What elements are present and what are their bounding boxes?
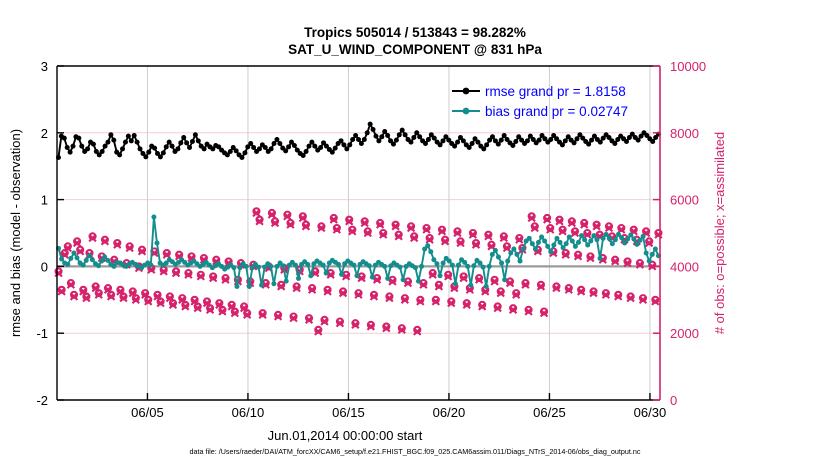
series-marker <box>350 137 355 142</box>
series-marker <box>242 150 247 155</box>
series-marker <box>196 138 201 143</box>
series-marker <box>99 259 104 264</box>
series-marker <box>362 137 367 142</box>
series-marker <box>324 271 329 276</box>
series-marker <box>423 141 428 146</box>
series-marker <box>653 247 658 252</box>
series-marker <box>370 275 375 280</box>
series-marker <box>638 238 643 243</box>
series-marker <box>117 152 122 157</box>
series-marker <box>419 264 424 269</box>
series-marker <box>634 242 639 247</box>
series-marker <box>574 136 579 141</box>
series-marker <box>490 252 495 257</box>
y-tick-label-right: 8000 <box>670 126 699 141</box>
series-marker <box>628 233 633 238</box>
series-marker <box>589 138 594 143</box>
series-marker <box>178 140 183 145</box>
series-marker <box>309 140 314 145</box>
series-marker <box>514 252 519 257</box>
series-marker <box>493 248 498 253</box>
series-marker <box>108 132 113 137</box>
series-marker <box>353 133 358 138</box>
legend-label: bias grand pr = 0.02747 <box>485 104 628 119</box>
series-marker <box>650 139 655 144</box>
series-marker <box>585 243 590 248</box>
series-marker <box>347 142 352 147</box>
series-marker <box>120 146 125 151</box>
series-marker <box>111 264 116 269</box>
series-marker <box>518 259 523 264</box>
series-marker <box>400 128 405 133</box>
series-marker <box>525 138 530 143</box>
series-marker <box>184 140 189 145</box>
series-marker <box>417 134 422 139</box>
series-marker <box>610 241 615 246</box>
series-marker <box>152 146 157 151</box>
series-marker <box>286 144 291 149</box>
series-marker <box>274 137 279 142</box>
series-marker <box>539 235 544 240</box>
legend-label: rmse grand pr = 1.8158 <box>485 84 626 99</box>
series-marker <box>481 146 486 151</box>
series-marker <box>87 253 92 258</box>
series-marker <box>475 140 480 145</box>
series-marker <box>283 148 288 153</box>
series-marker <box>502 277 507 282</box>
series-marker <box>545 244 550 249</box>
y-tick-label-right: 6000 <box>670 193 699 208</box>
series-marker <box>496 255 501 260</box>
series-marker <box>164 144 169 149</box>
series-marker <box>484 284 489 289</box>
series-marker <box>247 284 252 289</box>
series-marker <box>582 237 587 242</box>
chart-canvas: -2-10123020004000600080001000006/0506/10… <box>0 0 830 470</box>
series-marker <box>631 237 636 242</box>
series-marker <box>530 241 535 246</box>
series-marker <box>641 234 646 239</box>
series-marker <box>487 264 492 269</box>
series-marker <box>438 142 443 147</box>
series-marker <box>126 134 131 139</box>
series-marker <box>379 134 384 139</box>
series-marker <box>644 251 649 256</box>
y-tick-label-right: 0 <box>670 393 677 408</box>
series-marker <box>572 140 577 145</box>
series-marker <box>594 237 599 242</box>
series-marker <box>68 256 73 261</box>
series-marker <box>85 146 90 151</box>
series-marker <box>251 145 256 150</box>
series-marker <box>573 244 578 249</box>
series-marker <box>398 265 403 270</box>
series-marker <box>564 241 569 246</box>
series-marker <box>499 261 504 266</box>
series-marker <box>478 261 483 266</box>
series-marker <box>548 249 553 254</box>
series-marker <box>339 272 344 277</box>
series-marker <box>132 133 137 138</box>
series-marker <box>272 141 277 146</box>
series-marker <box>481 265 486 270</box>
series-marker <box>308 273 313 278</box>
x-tick-label: 06/20 <box>433 405 466 420</box>
legend-marker <box>463 88 470 95</box>
series-marker <box>359 141 364 146</box>
series-marker <box>536 240 541 245</box>
series-marker <box>428 249 433 254</box>
series-marker <box>537 138 542 143</box>
x-tick-label: 06/10 <box>232 405 265 420</box>
series-marker <box>461 138 466 143</box>
series-marker <box>601 236 606 241</box>
series-marker <box>238 265 243 270</box>
line-series <box>56 122 661 160</box>
series-marker <box>281 263 286 268</box>
series-marker <box>570 239 575 244</box>
series-marker <box>484 142 489 147</box>
y-tick-label: -1 <box>36 326 48 341</box>
series-marker <box>296 276 301 281</box>
x-axis-caption: Jun.01,2014 00:00:00 start <box>0 428 690 443</box>
series-marker <box>456 263 461 268</box>
series-marker <box>301 153 306 158</box>
series-marker <box>391 142 396 147</box>
series-marker <box>228 149 233 154</box>
series-marker <box>426 137 431 142</box>
series-marker <box>440 138 445 143</box>
series-marker <box>269 146 274 151</box>
series-marker <box>304 149 309 154</box>
x-tick-label: 06/15 <box>332 405 365 420</box>
y-axis-title-right: # of obs: o=possible; x=assimilated <box>712 132 727 334</box>
series-marker <box>351 263 356 268</box>
series-marker <box>256 265 261 270</box>
series-marker <box>330 150 335 155</box>
y-tick-label-right: 2000 <box>670 326 699 341</box>
series-marker <box>65 145 70 150</box>
series-marker <box>624 139 629 144</box>
series-marker <box>190 139 195 144</box>
series-marker <box>356 137 361 142</box>
series-marker <box>305 262 310 267</box>
x-tick-label: 06/30 <box>634 405 667 420</box>
series-marker <box>511 247 516 252</box>
series-marker <box>312 144 317 149</box>
series-marker <box>373 134 378 139</box>
series-marker <box>533 247 538 252</box>
series-marker <box>321 263 326 268</box>
series-marker <box>368 122 373 127</box>
plot-figure: Tropics 505014 / 513843 = 98.282% SAT_U_… <box>0 0 830 470</box>
series-marker <box>354 273 359 278</box>
series-marker <box>470 141 475 146</box>
series-marker <box>591 233 596 238</box>
series-marker <box>202 146 207 151</box>
series-marker <box>187 145 192 150</box>
series-marker <box>414 130 419 135</box>
series-marker <box>612 141 617 146</box>
series-marker <box>450 263 455 268</box>
series-marker <box>496 142 501 147</box>
series-marker <box>551 243 556 248</box>
series-marker <box>234 284 239 289</box>
series-marker <box>453 281 458 286</box>
series-marker <box>167 140 172 145</box>
series-marker <box>468 283 473 288</box>
series-marker <box>636 138 641 143</box>
series-marker <box>259 283 264 288</box>
series-marker <box>257 146 262 151</box>
series-marker <box>123 140 128 145</box>
series-marker <box>579 233 584 238</box>
series-marker <box>154 241 159 246</box>
series-marker <box>74 255 79 260</box>
series-marker <box>558 240 563 245</box>
series-marker <box>598 140 603 145</box>
series-marker <box>244 264 249 269</box>
series-marker <box>138 146 143 151</box>
series-marker <box>231 265 236 270</box>
series-marker <box>561 245 566 250</box>
series-marker <box>613 237 618 242</box>
series-marker <box>62 136 67 141</box>
series-marker <box>371 127 376 132</box>
series-marker <box>521 247 526 252</box>
series-marker <box>588 239 593 244</box>
series-marker <box>548 137 553 142</box>
series-marker <box>105 258 110 263</box>
series-marker <box>129 138 134 143</box>
series-marker <box>438 273 443 278</box>
series-marker <box>339 138 344 143</box>
series-marker <box>333 146 338 151</box>
series-marker <box>84 258 89 263</box>
series-marker <box>293 263 298 268</box>
series-marker <box>170 144 175 149</box>
series-marker <box>650 252 655 257</box>
series-marker <box>103 144 108 149</box>
series-marker <box>158 154 163 159</box>
series-marker <box>271 281 276 286</box>
series-marker <box>248 141 253 146</box>
series-marker <box>505 259 510 264</box>
series-marker <box>447 259 452 264</box>
series-marker <box>425 243 430 248</box>
series-marker <box>306 144 311 149</box>
series-marker <box>622 241 627 246</box>
series-marker <box>161 150 166 155</box>
y-tick-label: 2 <box>41 126 48 141</box>
series-marker <box>193 132 198 137</box>
x-tick-label: 06/05 <box>131 405 164 420</box>
series-marker <box>467 145 472 150</box>
y-tick-label: 0 <box>41 259 48 274</box>
series-marker <box>277 141 282 146</box>
series-marker <box>76 136 81 141</box>
series-marker <box>542 239 547 244</box>
series-marker <box>367 263 372 268</box>
series-marker <box>385 276 390 281</box>
series-marker <box>96 263 101 268</box>
series-marker <box>71 144 76 149</box>
y-tick-label: 1 <box>41 193 48 208</box>
series-marker <box>284 279 289 284</box>
series-marker <box>560 142 565 147</box>
series-marker <box>79 144 84 149</box>
series-marker <box>385 133 390 138</box>
series-marker <box>431 257 436 262</box>
series-marker <box>411 135 416 140</box>
series-marker <box>403 132 408 137</box>
series-marker <box>441 261 446 266</box>
series-marker <box>268 264 273 269</box>
series-marker <box>508 251 513 256</box>
series-marker <box>527 236 532 241</box>
series-marker <box>382 264 387 269</box>
series-marker <box>59 257 64 262</box>
y-tick-label: 3 <box>41 59 48 74</box>
series-marker <box>151 214 156 219</box>
y-axis-title: rmse and bias (model - observation) <box>8 129 23 337</box>
series-marker <box>394 138 399 143</box>
series-marker <box>465 264 470 269</box>
series-marker <box>408 140 413 145</box>
series-marker <box>318 145 323 150</box>
series-marker <box>365 130 370 135</box>
series-marker <box>401 277 406 282</box>
series-marker <box>100 149 105 154</box>
series-marker <box>91 142 96 147</box>
series-marker <box>263 145 268 150</box>
series-marker <box>471 263 476 268</box>
series-marker <box>146 150 151 155</box>
y-tick-label-right: 4000 <box>670 259 699 274</box>
series-marker <box>292 143 297 148</box>
series-marker <box>143 154 148 159</box>
series-marker <box>554 236 559 241</box>
chart-legend: rmse grand pr = 1.8158bias grand pr = 0.… <box>452 84 628 119</box>
x-tick-label: 06/25 <box>533 405 566 420</box>
series-marker <box>576 240 581 245</box>
series-marker <box>148 263 153 268</box>
series-marker <box>181 135 186 140</box>
legend-marker <box>463 108 470 115</box>
series-marker <box>175 146 180 151</box>
series-marker <box>382 129 387 134</box>
series-marker <box>65 262 70 267</box>
series-marker <box>376 138 381 143</box>
series-marker <box>68 150 73 155</box>
series-marker <box>413 265 418 270</box>
series-marker <box>71 251 76 256</box>
series-marker <box>567 235 572 240</box>
data-file-path: data file: /Users/raeder/DAI/ATM_forcXX/… <box>0 447 830 456</box>
series-marker <box>397 132 402 137</box>
series-marker <box>604 232 609 237</box>
series-marker <box>619 235 624 240</box>
series-marker <box>344 146 349 151</box>
series-marker <box>462 260 467 265</box>
series-marker <box>135 140 140 145</box>
series-marker <box>586 142 591 147</box>
series-marker <box>111 138 116 143</box>
series-marker <box>105 140 110 145</box>
series-marker <box>434 261 439 266</box>
series-marker <box>502 133 507 138</box>
series-marker <box>598 256 603 261</box>
series-marker <box>336 262 341 267</box>
series-marker <box>341 142 346 147</box>
series-marker <box>416 279 421 284</box>
series-marker <box>490 134 495 139</box>
series-marker <box>81 263 86 268</box>
series-marker <box>239 155 244 160</box>
y-tick-label-right: 10000 <box>670 59 706 74</box>
series-marker <box>432 136 437 141</box>
series-marker <box>90 257 95 262</box>
series-marker <box>563 138 568 143</box>
series-marker <box>499 138 504 143</box>
series-marker <box>510 143 515 148</box>
series-marker <box>455 140 460 145</box>
series-marker <box>452 144 457 149</box>
series-marker <box>607 236 612 241</box>
series-marker <box>625 237 630 242</box>
series-marker <box>234 148 239 153</box>
y-tick-label: -2 <box>36 393 48 408</box>
series-marker <box>647 259 652 264</box>
series-marker <box>513 139 518 144</box>
